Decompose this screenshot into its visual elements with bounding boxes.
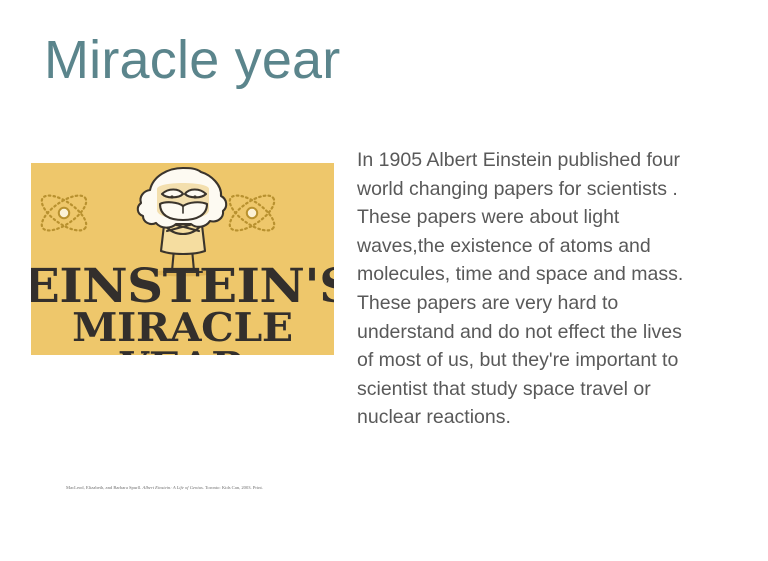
citation-work-title: Albert Einstein: A Life of Genius [143, 485, 203, 490]
atom-icon-right [224, 189, 279, 237]
atom-icon-left [36, 189, 91, 237]
citation-publication: . Toronto: Kids Can, 2003. Print. [203, 485, 263, 490]
slide-canvas: Miracle year [0, 0, 768, 561]
citation: MacLeod, Elizabeth, and Barbara Spurll. … [66, 484, 311, 492]
citation-authors: MacLeod, Elizabeth, and Barbara Spurll. [66, 485, 141, 490]
page-title: Miracle year [44, 26, 704, 94]
poster-wordmark-line1: EINSTEIN'S [31, 263, 334, 310]
poster-image: EINSTEIN'S MIRACLE YEAR [31, 163, 334, 355]
body-paragraph: In 1905 Albert Einstein published four w… [357, 146, 687, 432]
poster-wordmark-line2: MIRACLE YEAR [31, 309, 334, 355]
